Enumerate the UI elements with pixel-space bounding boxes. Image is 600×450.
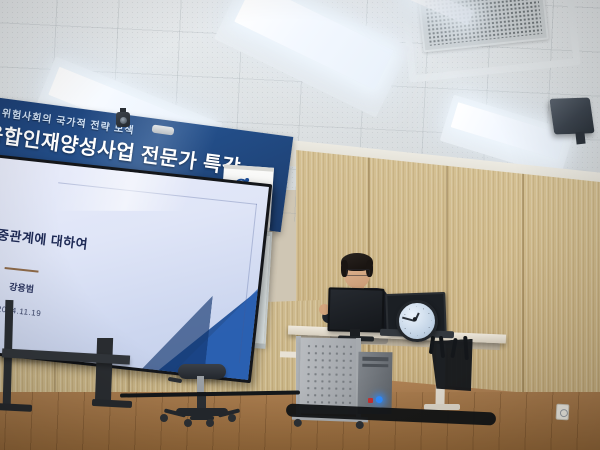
pc-tower[interactable]	[357, 352, 392, 415]
slide-divider	[5, 267, 39, 273]
ceiling-speaker-upper	[549, 97, 594, 134]
lecture-room-photo: 위험사회의 국가적 전략 모색 융합인재양성사업 전문가 특강 HUSS 한국인…	[0, 0, 600, 450]
pc-power-led-icon	[376, 396, 383, 403]
presenter-monitor[interactable]	[327, 287, 384, 332]
display-stand-post	[95, 338, 113, 404]
presentation-slide: 정은 시대의 북중관계에 대하여 강용범 2024.11.19	[0, 155, 269, 380]
stool-base	[176, 408, 228, 416]
equipment-cart-panel[interactable]	[299, 337, 358, 414]
pc-indicator-red	[368, 398, 373, 403]
presenter-glasses	[346, 269, 370, 276]
ceiling-speaker-upper-bracket	[575, 132, 585, 145]
slide-author: 강용범	[0, 275, 77, 300]
projector-icon	[115, 108, 131, 130]
slide-title: 정은 시대의 북중관계에 대하여	[0, 215, 214, 266]
wall-display[interactable]: 정은 시대의 북중관계에 대하여 강용범 2024.11.19	[0, 152, 272, 383]
wall-outlet-right[interactable]	[556, 404, 570, 421]
